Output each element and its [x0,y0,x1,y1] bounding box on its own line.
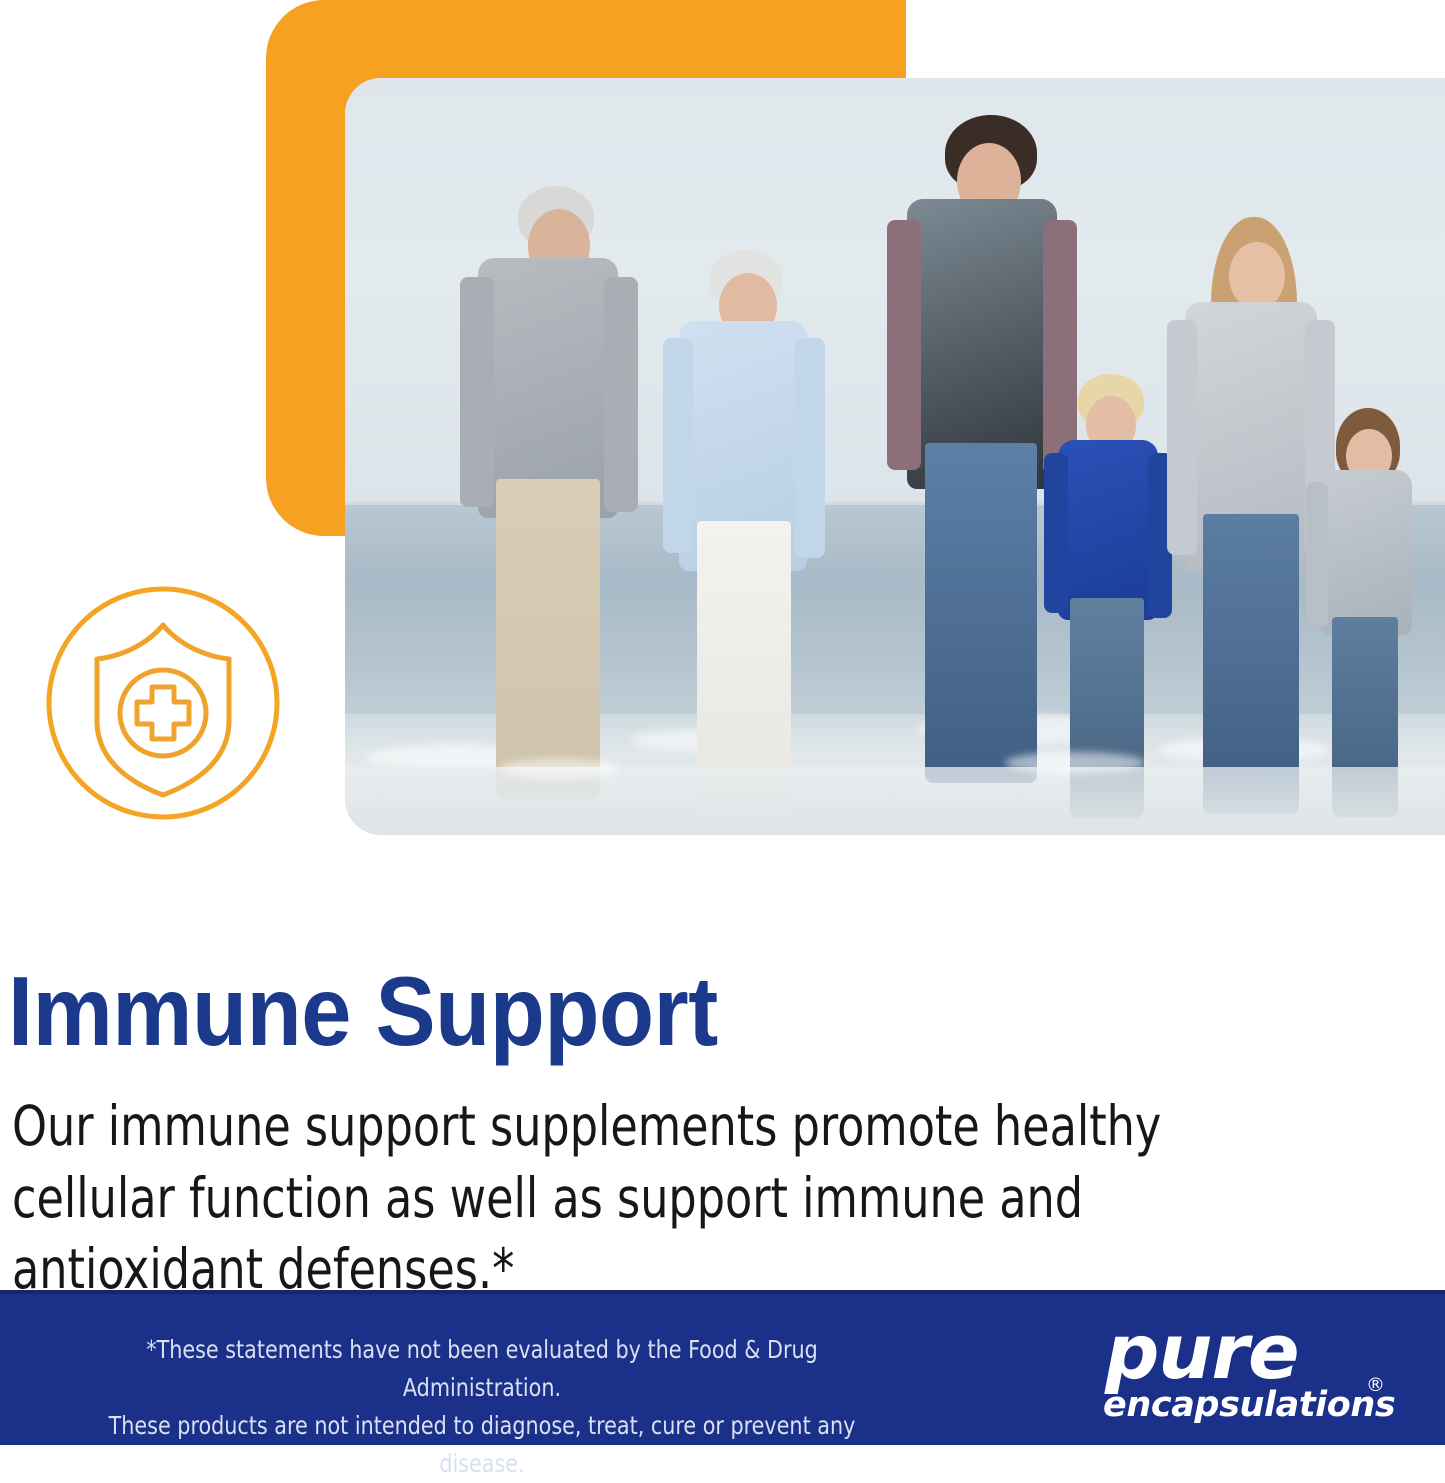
arm-left [887,220,921,470]
torso [1058,440,1158,620]
person-young-girl [1302,396,1432,805]
hero-photo [345,78,1445,835]
description-text: Our immune support supplements promote h… [12,1091,1173,1306]
legs [496,479,600,799]
head [1229,242,1285,310]
disclaimer: *These statements have not been evaluate… [68,1331,895,1483]
torso [1320,470,1412,635]
photo-surf-front [345,767,1445,835]
arm-right [795,338,825,558]
brand-name-primary: pure [1105,1314,1299,1390]
footer-bar: *These statements have not been evaluate… [0,1290,1445,1445]
legs [925,443,1037,783]
arm-right [604,277,638,512]
arm-left [1306,482,1328,627]
brand-name-secondary: encapsulations [1103,1388,1395,1423]
arm-left [460,277,494,507]
shield-medical-cross-icon [45,585,281,821]
person-older-man [444,154,644,805]
page-title: Immune Support [8,962,718,1060]
registered-trademark-icon: ® [1366,1374,1385,1396]
disclaimer-line-1: *These statements have not been evaluate… [68,1331,895,1407]
arm-left [1044,453,1068,613]
person-older-woman [653,214,833,804]
foam-patch [1005,752,1145,774]
arm-left [663,338,693,553]
person-young-boy [1038,366,1178,805]
brand-logo: pure encapsulations ® [1097,1316,1387,1426]
arm-left [1167,320,1197,555]
